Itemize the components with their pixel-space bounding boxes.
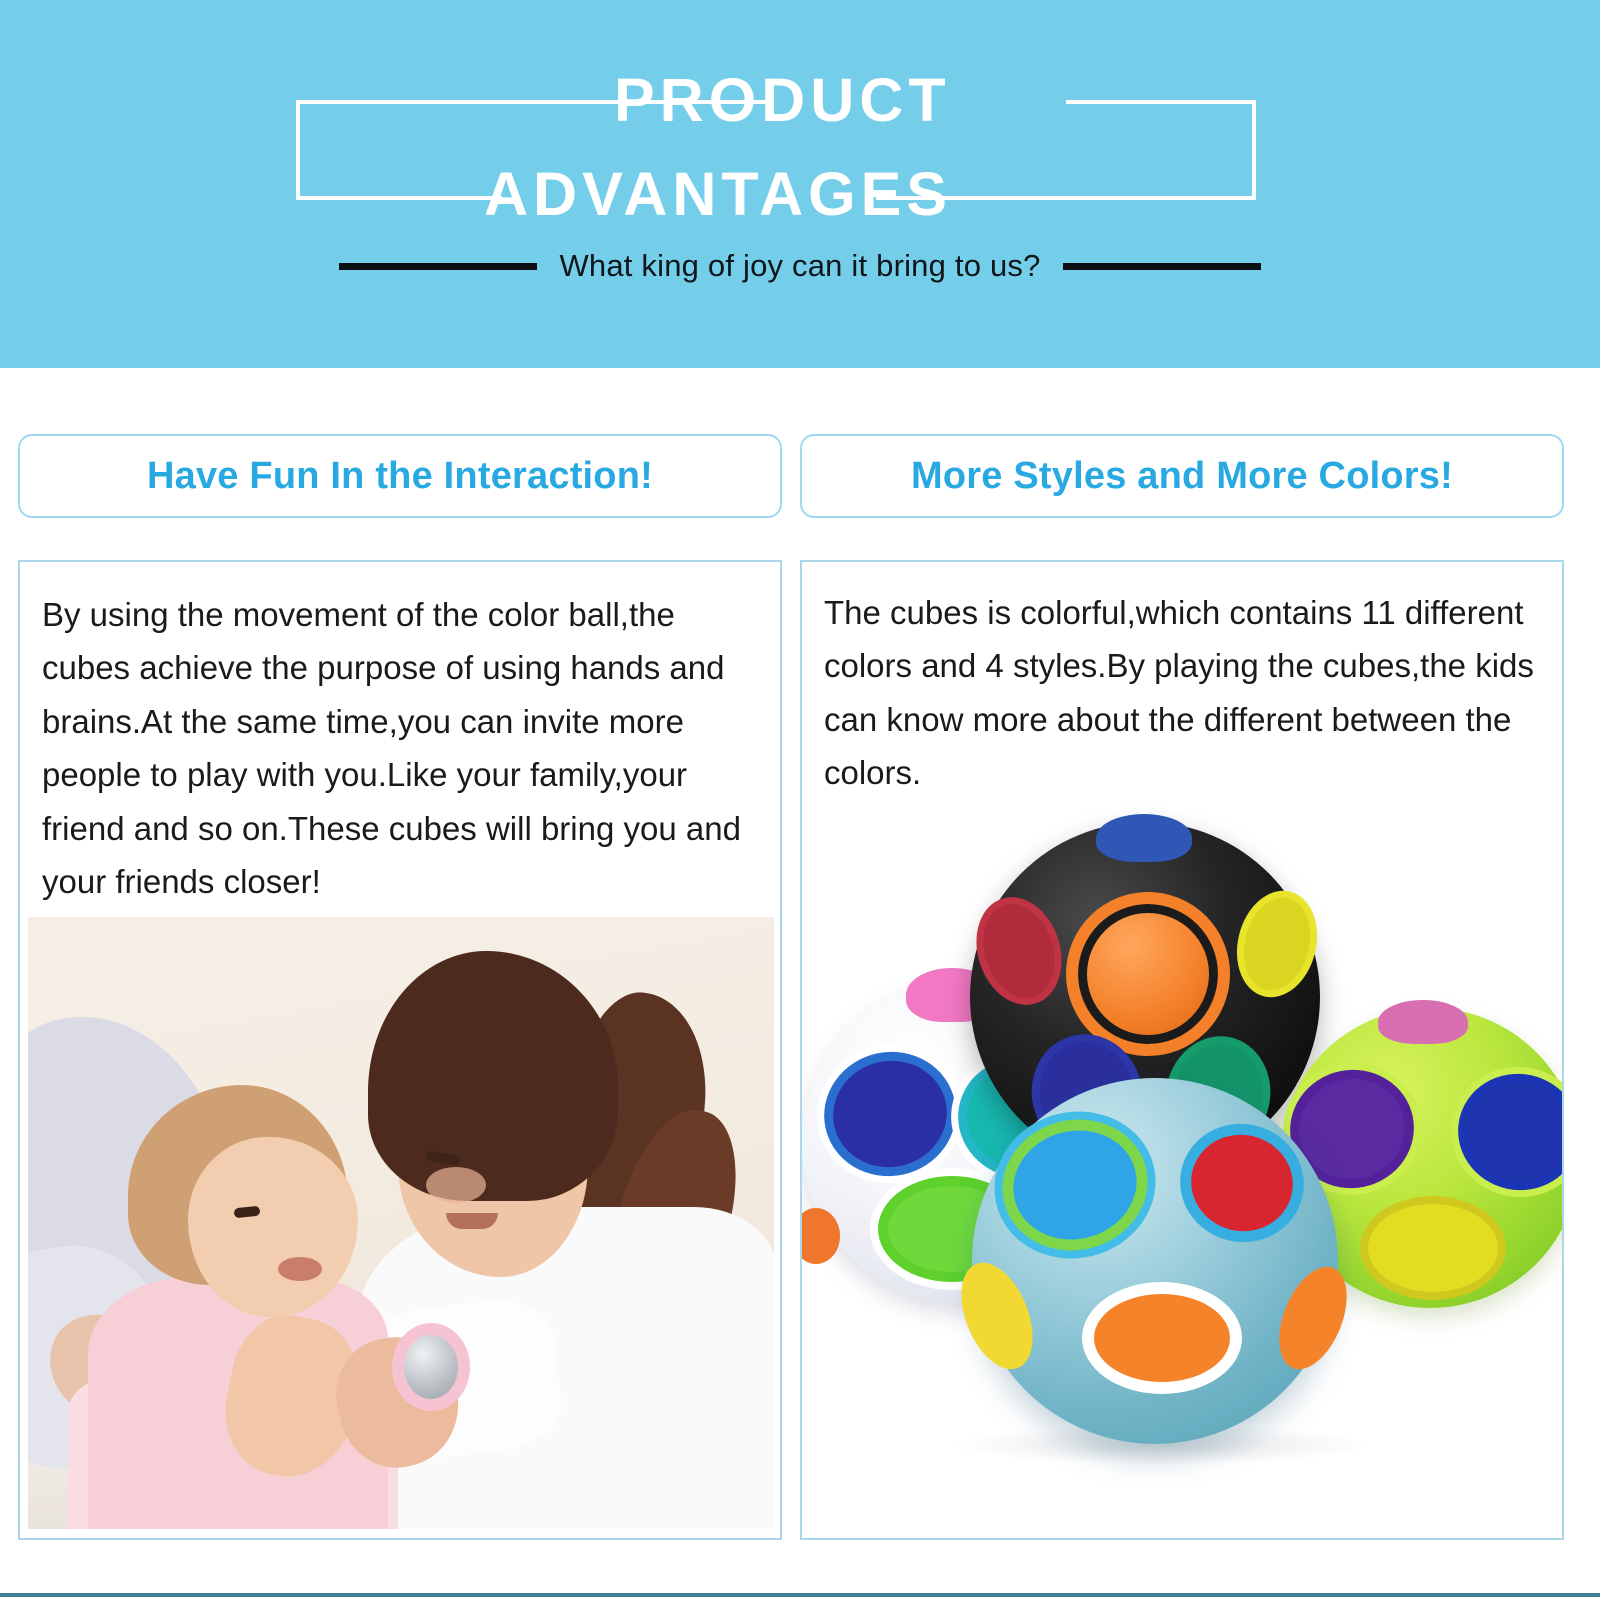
photo-girl-smile	[446, 1213, 498, 1229]
advantages-columns: Have Fun In the Interaction! By using th…	[0, 368, 1600, 1600]
ball-black-blue-top-dot	[1096, 814, 1192, 862]
panel-body-interaction: By using the movement of the color ball,…	[18, 560, 782, 1540]
header-frame-left-edge	[296, 100, 300, 200]
header-subtitle-row: What king of joy can it bring to us?	[0, 236, 1600, 296]
ball-black-orange-center-ring	[1066, 892, 1230, 1056]
header-frame-right-edge	[1252, 100, 1256, 200]
photo-baby-mouth	[278, 1257, 322, 1281]
product-advantages-page: PRODUCT ADVANTAGES What king of joy can …	[0, 0, 1600, 1600]
panel-title-colors-label: More Styles and More Colors!	[911, 455, 1453, 498]
subtitle-dash-left-icon	[339, 263, 537, 270]
ball-blue-orange-bottom-ring	[1082, 1282, 1242, 1394]
page-title-line-2: ADVANTAGES	[484, 164, 952, 225]
photo-girl-and-baby-playing-with-ball	[28, 917, 774, 1529]
header-frame-bottom-left-segment	[296, 196, 502, 200]
advantage-column-interaction: Have Fun In the Interaction! By using th…	[18, 368, 800, 1600]
ball-white-blue-left-ring	[813, 1040, 968, 1189]
page-header: PRODUCT ADVANTAGES What king of joy can …	[0, 0, 1600, 368]
page-title-line-1: PRODUCT	[614, 70, 951, 131]
puzzle-ball-blue	[972, 1078, 1338, 1444]
photo-girl-cheek	[426, 1167, 486, 1203]
ball-green-yellow-bottom-ring	[1360, 1196, 1506, 1300]
ball-white-orange-edge-dot	[800, 1208, 840, 1264]
page-subtitle: What king of joy can it bring to us?	[559, 248, 1040, 284]
subtitle-dash-right-icon	[1063, 263, 1261, 270]
panel-title-interaction-label: Have Fun In the Interaction!	[147, 455, 653, 498]
advantage-column-colors: More Styles and More Colors! The cubes i…	[800, 368, 1582, 1600]
panel-title-colors: More Styles and More Colors!	[800, 434, 1564, 518]
ball-black-red-left-ring	[963, 886, 1075, 1016]
header-frame-top-right-segment	[1066, 100, 1256, 104]
ball-black-yellow-right-ring	[1226, 882, 1328, 1006]
photo-silver-ball	[404, 1335, 458, 1399]
panel-text-interaction: By using the movement of the color ball,…	[20, 562, 780, 909]
panel-text-colors: The cubes is colorful,which contains 11 …	[802, 562, 1562, 800]
header-title-frame: PRODUCT ADVANTAGES	[296, 72, 1256, 200]
panel-title-interaction: Have Fun In the Interaction!	[18, 434, 782, 518]
ball-green-blue-right-ring	[1447, 1063, 1564, 1202]
page-bottom-rule	[0, 1593, 1600, 1597]
panel-body-colors: The cubes is colorful,which contains 11 …	[800, 560, 1564, 1540]
photo-four-rainbow-puzzle-balls	[802, 810, 1562, 1536]
ball-green-pink-top-dot	[1378, 1000, 1468, 1044]
